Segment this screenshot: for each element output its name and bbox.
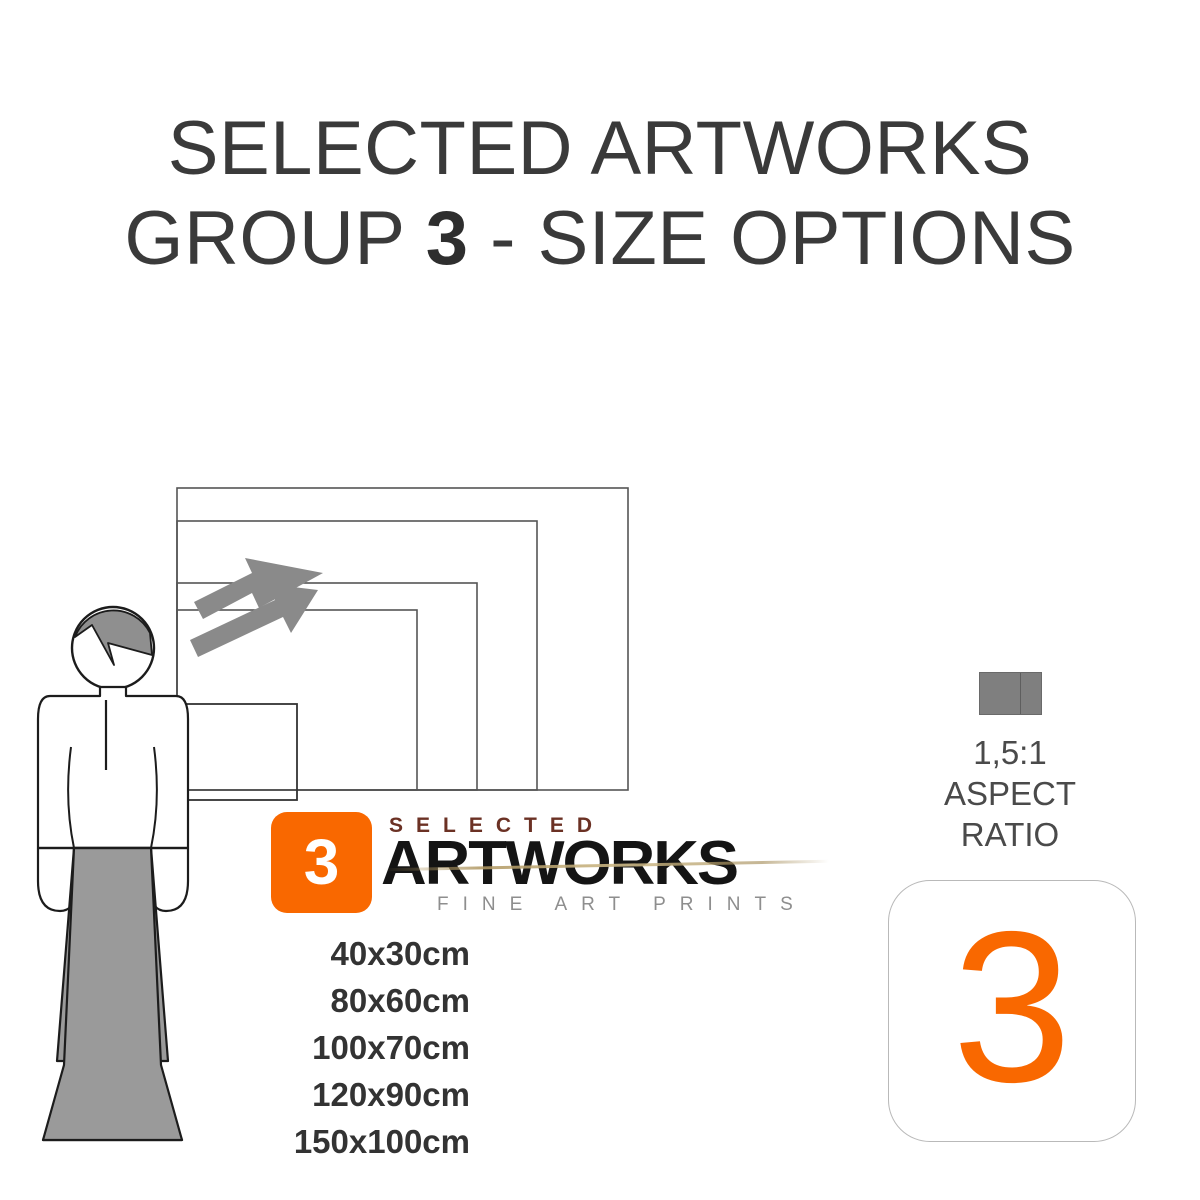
page-title: SELECTED ARTWORKS GROUP 3 - SIZE OPTIONS (0, 104, 1200, 284)
group-number-value: 3 (889, 881, 1135, 1141)
person-torso (38, 687, 188, 848)
aspect-word-line-1: ASPECT (880, 773, 1140, 814)
logo-wordmark: SELECTED ARTWORKS FINE ART PRINTS (381, 812, 831, 917)
group-badge: 3 (271, 812, 372, 913)
aspect-ratio-text: 1,5:1 ASPECT RATIO (880, 732, 1140, 855)
size-option-2: 80x60cm (0, 977, 470, 1024)
aspect-ratio-value: 1,5:1 (880, 732, 1140, 773)
size-options-list: 40x30cm 80x60cm 100x70cm 120x90cm 150x10… (0, 930, 470, 1165)
title-line-1: SELECTED ARTWORKS (0, 104, 1200, 194)
size-option-4: 120x90cm (0, 1071, 470, 1118)
aspect-ratio-icon (979, 672, 1042, 715)
logo-artworks-text: ARTWORKS (381, 828, 737, 899)
aspect-icon-divider (1020, 673, 1021, 714)
aspect-word-line-2: RATIO (880, 814, 1140, 855)
title-group-suffix: - SIZE OPTIONS (469, 196, 1076, 281)
group-number-card: 3 (888, 880, 1136, 1142)
size-option-3: 100x70cm (0, 1024, 470, 1071)
aspect-icon-wrap (880, 672, 1140, 724)
title-group-prefix: GROUP (124, 196, 425, 281)
size-option-5: 150x100cm (0, 1118, 470, 1165)
size-option-1: 40x30cm (0, 930, 470, 977)
title-group-number: 3 (426, 196, 469, 281)
brand-logo: 3 SELECTED ARTWORKS FINE ART PRINTS (271, 812, 831, 917)
aspect-ratio-panel: 1,5:1 ASPECT RATIO (880, 672, 1140, 855)
poster-canvas: SELECTED ARTWORKS GROUP 3 - SIZE OPTIONS (0, 0, 1200, 1200)
title-line-2: GROUP 3 - SIZE OPTIONS (0, 194, 1200, 284)
logo-tagline: FINE ART PRINTS (437, 894, 807, 916)
